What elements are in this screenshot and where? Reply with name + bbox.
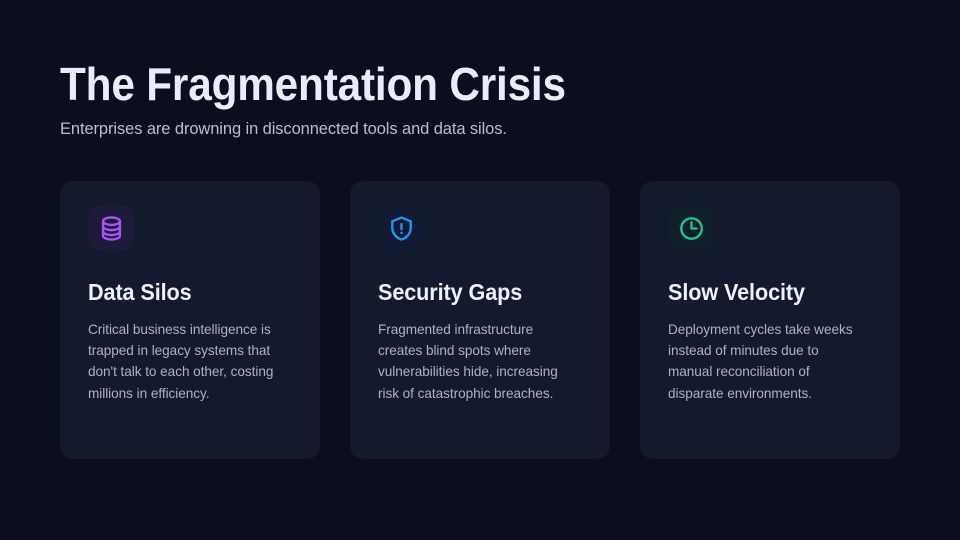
card-title-security-gaps: Security Gaps (378, 251, 570, 306)
slide-header: The Fragmentation Crisis Enterprises are… (60, 57, 900, 140)
card-data-silos[interactable]: Data Silos Critical business intelligenc… (60, 181, 320, 459)
card-body-data-silos: Critical business intelligence is trappe… (88, 306, 284, 404)
card-body-slow-velocity: Deployment cycles take weeks instead of … (668, 306, 864, 404)
card-title-slow-velocity: Slow Velocity (668, 251, 860, 306)
icon-tile-data-silos (88, 205, 134, 251)
card-slow-velocity[interactable]: Slow Velocity Deployment cycles take wee… (640, 181, 900, 459)
clock-icon (678, 215, 705, 242)
card-title-data-silos: Data Silos (88, 251, 280, 306)
icon-tile-slow-velocity (668, 205, 714, 251)
card-body-security-gaps: Fragmented infrastructure creates blind … (378, 306, 574, 404)
icon-tile-security-gaps (378, 205, 424, 251)
card-security-gaps[interactable]: Security Gaps Fragmented infrastructure … (350, 181, 610, 459)
page-subtitle: Enterprises are drowning in disconnected… (60, 118, 900, 140)
card-grid: Data Silos Critical business intelligenc… (60, 181, 900, 459)
slide-root: The Fragmentation Crisis Enterprises are… (0, 0, 960, 540)
page-title: The Fragmentation Crisis (60, 57, 833, 111)
database-icon (98, 215, 125, 242)
shield-alert-icon (388, 215, 415, 242)
